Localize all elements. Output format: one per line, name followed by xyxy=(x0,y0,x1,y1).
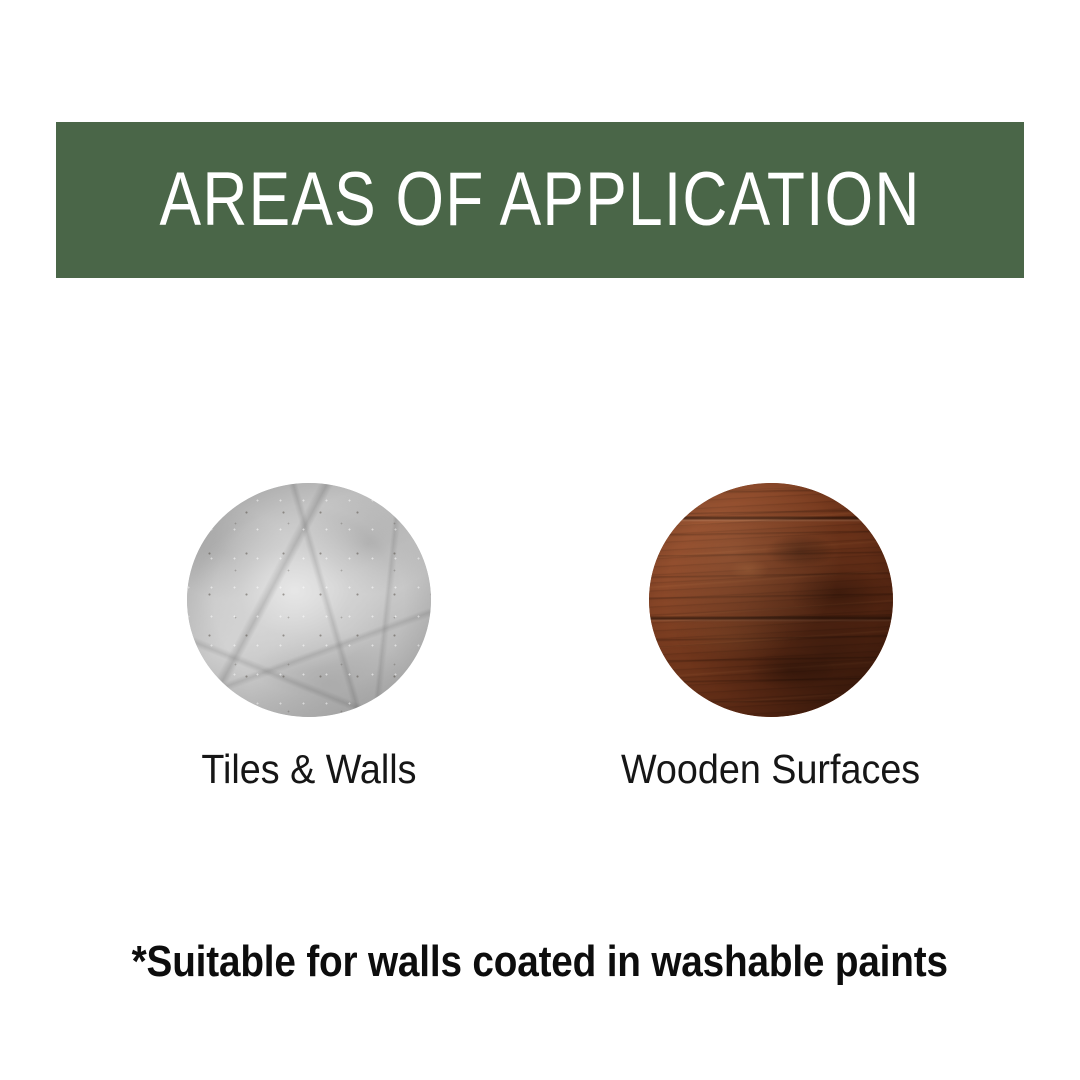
application-item-tiles-walls: Tiles & Walls xyxy=(187,483,431,790)
application-items-row: Tiles & Walls Wooden Surfaces xyxy=(0,483,1080,790)
footnote: *Suitable for walls coated in washable p… xyxy=(0,940,1080,984)
wood-grain-texture-swatch xyxy=(649,483,893,717)
footnote-text: *Suitable for walls coated in washable p… xyxy=(132,940,948,984)
stone-tile-texture-swatch xyxy=(187,483,431,717)
stone-shading-layer xyxy=(187,483,431,717)
areas-of-application-poster: AREAS OF APPLICATION Tiles & Walls Woode… xyxy=(0,0,1080,1080)
page-title: AREAS OF APPLICATION xyxy=(159,162,920,238)
application-item-label-tiles-walls: Tiles & Walls xyxy=(201,749,416,790)
application-item-label-wooden-surfaces: Wooden Surfaces xyxy=(621,749,920,790)
application-item-wooden-surfaces: Wooden Surfaces xyxy=(649,483,893,790)
header-banner: AREAS OF APPLICATION xyxy=(56,122,1024,278)
wood-shading-layer xyxy=(649,483,893,717)
